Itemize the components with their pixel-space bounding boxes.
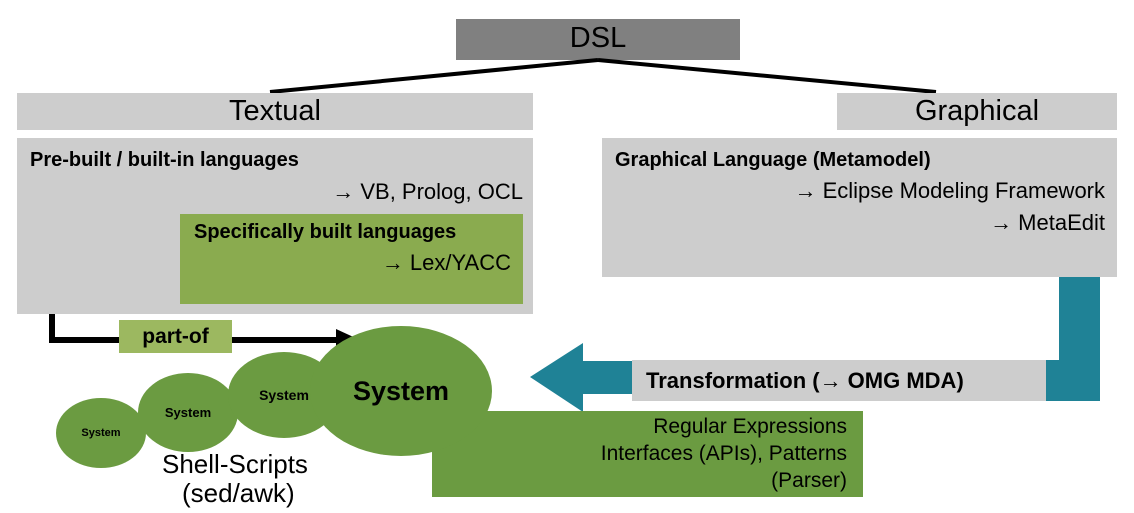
- textual-header-box[interactable]: Textual: [17, 93, 533, 130]
- graphical-panel[interactable]: Graphical Language (Metamodel) → Eclipse…: [602, 138, 1117, 277]
- system-caption-line-1: Shell-Scripts: [162, 449, 308, 480]
- connector-dsl-to-textual: [270, 60, 598, 92]
- graphical-panel-detail-1: → Eclipse Modeling Framework: [794, 178, 1105, 204]
- graphical-panel-title: Graphical Language (Metamodel): [615, 149, 931, 172]
- system-ellipse-2[interactable]: System: [138, 373, 238, 452]
- graphical-header-box[interactable]: Graphical: [837, 93, 1117, 130]
- specifically-built-detail: → Lex/YACC: [382, 250, 511, 276]
- part-of-label: part-of: [142, 325, 209, 348]
- connector-dsl-to-graphical: [598, 60, 936, 92]
- system-ellipse-3-label: System: [259, 387, 309, 403]
- transformation-label: Transformation (→ OMG MDA): [646, 368, 964, 394]
- transformation-riser-vertical: [1059, 277, 1100, 367]
- system-caption-line-2: (sed/awk): [182, 478, 295, 509]
- transformation-box[interactable]: Transformation (→ OMG MDA): [632, 360, 1046, 401]
- artifacts-box[interactable]: Regular Expressions Interfaces (APIs), P…: [432, 411, 863, 497]
- graphical-header-label: Graphical: [915, 95, 1039, 127]
- transformation-riser-elbow: [1046, 360, 1100, 401]
- specifically-built-languages-box[interactable]: Specifically built languages → Lex/YACC: [180, 214, 523, 304]
- system-ellipse-4-label: System: [353, 376, 449, 407]
- textual-header-label: Textual: [229, 95, 321, 127]
- system-ellipse-1[interactable]: System: [56, 398, 146, 468]
- system-ellipse-2-label: System: [165, 405, 211, 420]
- graphical-panel-detail-2: → MetaEdit: [990, 210, 1105, 236]
- dsl-taxonomy-diagram: DSL Textual Pre-built / built-in languag…: [0, 0, 1134, 513]
- part-of-label-box[interactable]: part-of: [119, 320, 232, 353]
- dsl-root-label: DSL: [570, 22, 626, 54]
- artifacts-line-3: (Parser): [771, 469, 847, 493]
- system-ellipse-1-label: System: [81, 427, 120, 439]
- textual-panel-detail: → VB, Prolog, OCL: [332, 179, 523, 205]
- dsl-root-box[interactable]: DSL: [456, 19, 740, 60]
- artifacts-line-2: Interfaces (APIs), Patterns: [601, 442, 847, 466]
- artifacts-line-1: Regular Expressions: [653, 415, 847, 439]
- system-ellipse-4[interactable]: System: [310, 326, 492, 456]
- textual-panel[interactable]: Pre-built / built-in languages → VB, Pro…: [17, 138, 533, 314]
- textual-panel-title: Pre-built / built-in languages: [30, 149, 299, 172]
- specifically-built-title: Specifically built languages: [194, 221, 456, 244]
